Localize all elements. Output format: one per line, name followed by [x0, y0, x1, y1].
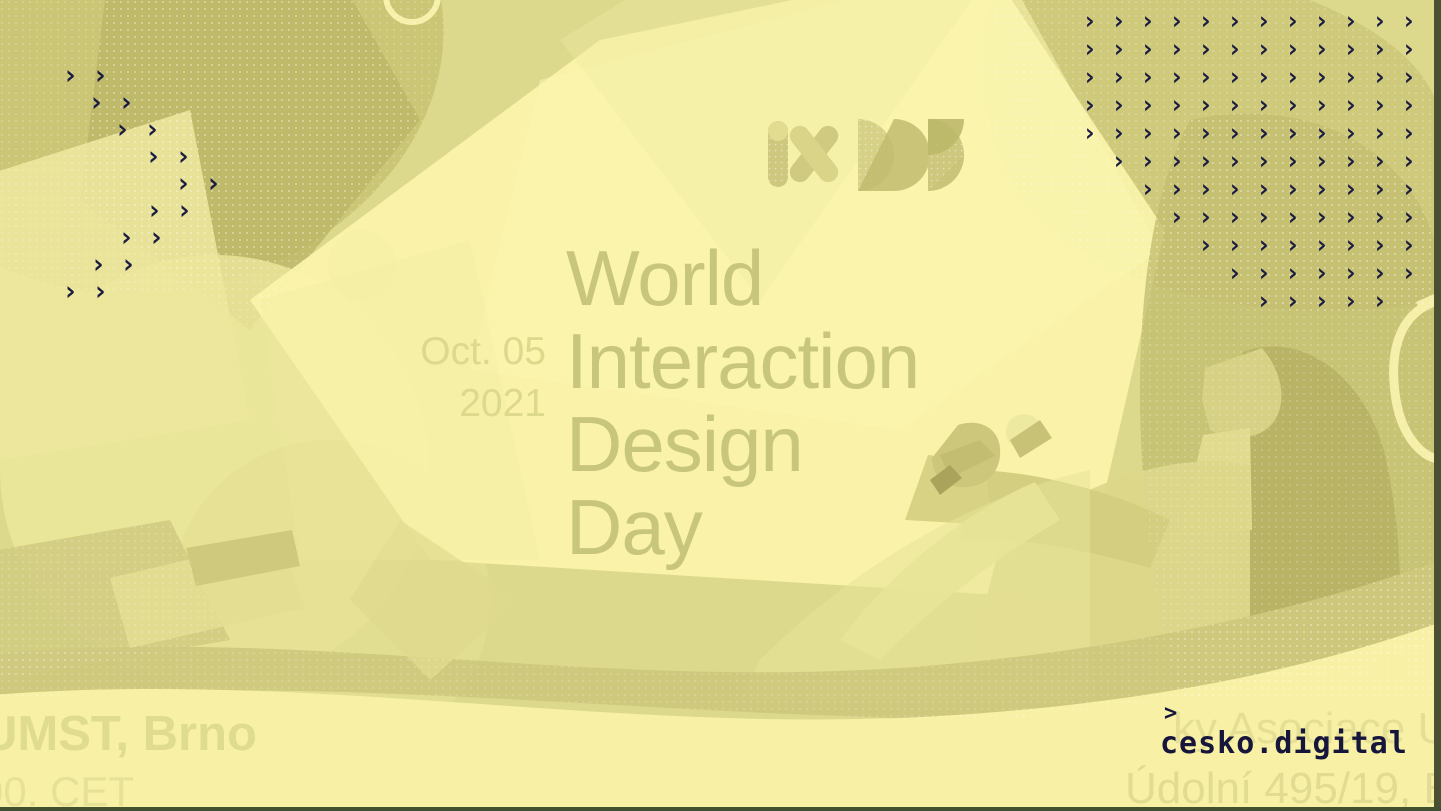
chevron-right-icon: › [1401, 36, 1416, 61]
chevron-right-icon: › [1314, 260, 1329, 285]
chevron-right-icon: › [1285, 64, 1300, 89]
chevron-right-icon: › [1082, 120, 1097, 145]
chevron-right-icon: › [1343, 260, 1358, 285]
chevron-right-icon: › [1227, 36, 1242, 61]
chevron-right-icon: › [1372, 8, 1387, 33]
chevron-right-icon: › [1285, 92, 1300, 117]
bottom-edge-border [0, 807, 1441, 811]
cesko-digital-logo[interactable]: > cesko.digital [1160, 703, 1408, 761]
chevron-right-icon: › [1372, 148, 1387, 173]
chevron-right-icon: › [1401, 8, 1416, 33]
chevron-right-icon: › [1401, 176, 1416, 201]
chevron-right-icon: › [1285, 8, 1300, 33]
chevron-right-icon: › [1343, 120, 1358, 145]
chevron-right-icon: › [1198, 204, 1213, 229]
chevron-right-icon: › [1227, 92, 1242, 117]
chevron-right-icon: › [1372, 176, 1387, 201]
chevron-right-icon: › [1256, 8, 1271, 33]
chevron-right-icon: › [1285, 120, 1300, 145]
chevron-right-icon: › [1082, 92, 1097, 117]
chevron-right-icon: › [1111, 120, 1126, 145]
chevron-right-icon: › [1401, 232, 1416, 257]
chevron-right-icon: › [1343, 148, 1358, 173]
chevron-right-icon: › [1314, 204, 1329, 229]
chevron-right-icon: › [1169, 92, 1184, 117]
venue-address: Údolní 495/19, Br [1125, 764, 1441, 811]
chevron-right-icon: › [1140, 120, 1155, 145]
chevron-right-icon: › [1372, 260, 1387, 285]
chevron-right-icon: › [1285, 148, 1300, 173]
chevron-right-icon: › [1401, 120, 1416, 145]
chevron-right-icon: › [1111, 64, 1126, 89]
chevron-right-icon: › [1169, 120, 1184, 145]
chevron-right-icon: › [1111, 92, 1126, 117]
chevron-right-icon: › [1314, 64, 1329, 89]
chevron-right-icon: › [1314, 92, 1329, 117]
event-date: Oct. 05 2021 [300, 326, 546, 430]
venue-name: UMST, Brno [0, 706, 257, 762]
cesko-digital-wordmark: cesko.digital [1160, 727, 1408, 761]
chevron-right-icon: › [1198, 120, 1213, 145]
chevron-right-icon: › [1343, 176, 1358, 201]
chevron-right-icon: › [1140, 148, 1155, 173]
chevron-right-icon: › [1285, 288, 1300, 313]
chevron-right-icon: › [1198, 148, 1213, 173]
page-title: World Interaction Design Day [566, 237, 919, 569]
chevron-right-icon: › [1256, 260, 1271, 285]
chevron-right-icon: › [1256, 232, 1271, 257]
chevron-right-icon: › [1169, 148, 1184, 173]
chevron-right-icon: › [1140, 8, 1155, 33]
chevron-right-icon: › [1343, 36, 1358, 61]
chevron-right-icon: › [1343, 288, 1358, 313]
chevron-right-icon: › [1314, 36, 1329, 61]
chevron-right-icon: › [1227, 204, 1242, 229]
chevron-right-icon: › [1169, 64, 1184, 89]
chevron-right-icon: › [1314, 288, 1329, 313]
chevron-right-icon: › [1227, 176, 1242, 201]
chevron-right-icon: › [1198, 8, 1213, 33]
chevron-right-icon: › [1082, 36, 1097, 61]
chevron-right-icon: › [1111, 36, 1126, 61]
chevron-right-icon: › [1256, 64, 1271, 89]
chevron-right-icon: › [1343, 232, 1358, 257]
chevron-right-icon: > [1164, 703, 1408, 725]
chevron-right-icon: › [1140, 176, 1155, 201]
chevron-right-icon: › [1198, 232, 1213, 257]
chevron-right-icon: › [1256, 120, 1271, 145]
chevron-right-icon: › [1401, 148, 1416, 173]
chevron-right-icon: › [1256, 204, 1271, 229]
chevron-right-icon: › [1169, 36, 1184, 61]
right-edge-border [1434, 0, 1441, 811]
chevron-right-icon: › [1314, 148, 1329, 173]
chevron-right-icon: › [1314, 120, 1329, 145]
ixdd-logo [762, 113, 1012, 198]
chevron-right-icon: › [1401, 204, 1416, 229]
chevron-right-icon: › [1256, 148, 1271, 173]
chevron-right-icon: › [1285, 232, 1300, 257]
poster-canvas: ›››››››››››››››››› ›››››››››››››››››››››… [0, 0, 1441, 811]
chevron-right-icon: › [1198, 64, 1213, 89]
chevron-right-icon: › [1256, 92, 1271, 117]
chevron-right-icon: › [1372, 36, 1387, 61]
chevron-right-icon: › [1343, 92, 1358, 117]
chevron-right-icon: › [1169, 8, 1184, 33]
chevron-right-icon: › [1140, 92, 1155, 117]
chevron-right-icon: › [1227, 120, 1242, 145]
chevron-right-icon: › [1372, 120, 1387, 145]
chevron-right-icon: › [1401, 260, 1416, 285]
chevron-right-icon: › [1198, 36, 1213, 61]
chevron-right-icon: › [1256, 36, 1271, 61]
chevron-right-icon: › [1285, 36, 1300, 61]
chevron-right-icon: › [1198, 92, 1213, 117]
chevron-right-icon: › [1343, 64, 1358, 89]
chevron-right-icon: › [1140, 36, 1155, 61]
chevron-right-icon: › [1285, 260, 1300, 285]
chevron-right-icon: › [1401, 92, 1416, 117]
chevron-right-icon: › [1140, 64, 1155, 89]
chevron-right-icon: › [1372, 64, 1387, 89]
chevron-right-icon: › [1314, 176, 1329, 201]
chevron-right-icon: › [1227, 8, 1242, 33]
chevron-right-icon: › [1372, 232, 1387, 257]
chevron-right-icon: › [1314, 232, 1329, 257]
chevron-right-icon: › [1372, 288, 1387, 313]
chevron-right-icon: › [1372, 92, 1387, 117]
chevron-right-icon: › [1285, 204, 1300, 229]
chevron-right-icon: › [1256, 288, 1271, 313]
chevron-right-icon: › [1227, 232, 1242, 257]
chevron-right-icon: › [1169, 176, 1184, 201]
chevron-right-icon: › [1285, 176, 1300, 201]
chevron-right-icon: › [1227, 64, 1242, 89]
chevron-right-icon: › [1401, 64, 1416, 89]
chevron-right-icon: › [1082, 8, 1097, 33]
event-time: 00. CET [0, 768, 134, 811]
ixdd-logo-glyphs [762, 113, 1012, 198]
chevron-right-icon: › [1111, 148, 1126, 173]
chevron-right-icon: › [1256, 176, 1271, 201]
chevron-right-icon: › [1227, 148, 1242, 173]
chevron-right-icon: › [1227, 260, 1242, 285]
chevron-right-icon: › [1343, 204, 1358, 229]
chevron-right-icon: › [1198, 176, 1213, 201]
chevron-right-icon: › [1082, 64, 1097, 89]
chevron-right-icon: › [1169, 204, 1184, 229]
chevron-right-icon: › [1343, 8, 1358, 33]
chevron-right-icon: › [1111, 8, 1126, 33]
chevron-right-icon: › [1314, 8, 1329, 33]
chevron-right-icon: › [1372, 204, 1387, 229]
